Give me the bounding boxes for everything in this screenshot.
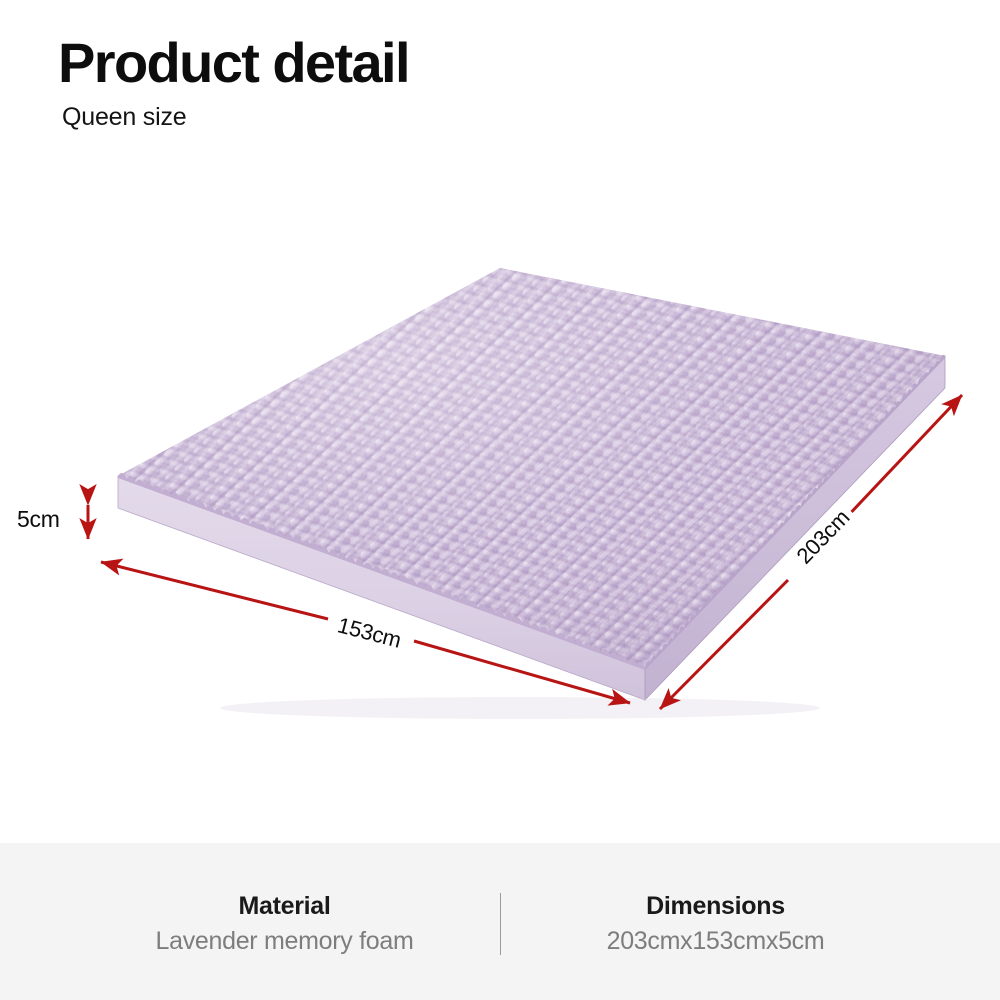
product-detail-page: Product detail Queen size <box>0 0 1000 1000</box>
dimension-arrows <box>0 0 1000 843</box>
spec-material: Material Lavender memory foam <box>70 885 500 959</box>
product-illustration: 5cm 153cm 203cm <box>0 0 1000 843</box>
dimension-label-height: 5cm <box>17 506 60 533</box>
spec-dimensions-title: Dimensions <box>501 891 931 922</box>
spec-dimensions: Dimensions 203cmx153cmx5cm <box>501 885 931 959</box>
spec-material-value: Lavender memory foam <box>70 925 500 959</box>
spec-bar: Material Lavender memory foam Dimensions… <box>0 843 1000 1000</box>
spec-dimensions-value: 203cmx153cmx5cm <box>501 925 931 959</box>
spec-material-title: Material <box>70 891 500 922</box>
